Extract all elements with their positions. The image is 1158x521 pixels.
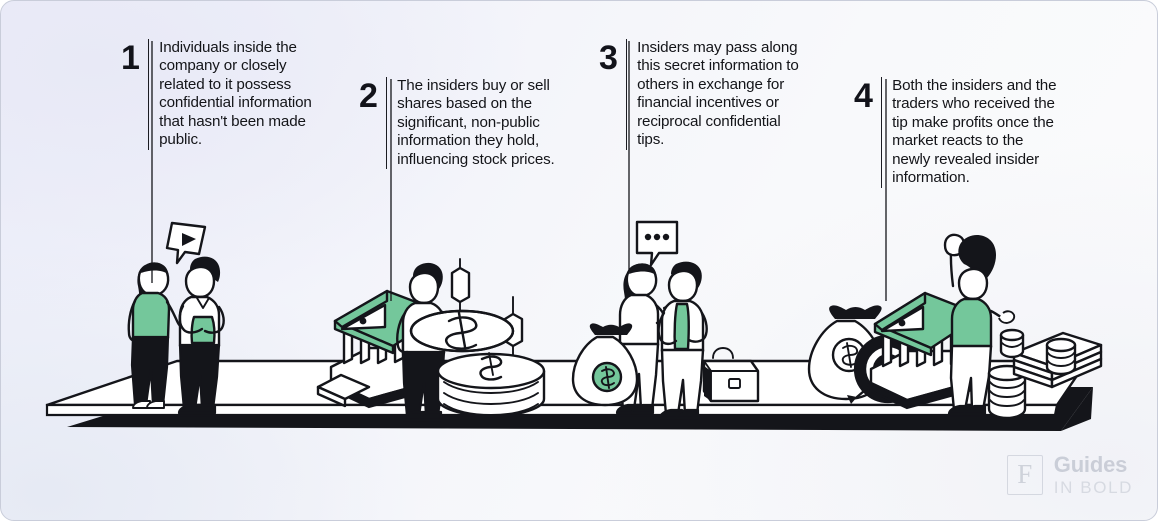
scene-3-tip-exchange — [573, 222, 758, 418]
target-with-arrow — [847, 336, 921, 404]
candlestick-chart — [452, 259, 522, 363]
logo-text-guides: Guides — [1054, 454, 1133, 476]
money-bag-dollar — [573, 323, 637, 405]
person-man-green-shirt — [659, 262, 707, 418]
logo-wordmark: Guides IN BOLD — [1054, 454, 1133, 496]
logo-text-in-bold: IN BOLD — [1054, 479, 1133, 496]
briefcase — [704, 348, 758, 401]
person-man-green-vest — [179, 257, 224, 413]
person-man-standing — [397, 263, 450, 420]
step-number-1: 1 — [121, 39, 139, 75]
person-woman-green-top — [129, 262, 188, 408]
step-text-1: Individuals inside the company or closel… — [159, 39, 321, 150]
dollar-sign-large — [446, 313, 476, 349]
step-number-2: 2 — [359, 77, 377, 113]
step-text-3: Insiders may pass along this secret info… — [637, 39, 799, 150]
brand-logo: F Guides IN BOLD — [1007, 454, 1133, 496]
logo-mark-f-icon: F — [1007, 455, 1043, 495]
person-celebrating-woman — [945, 235, 1014, 414]
coin-stack-far-right — [1047, 339, 1075, 374]
infographic-canvas: .ln { fill:none; stroke:#14151a; stroke-… — [0, 0, 1158, 521]
ground-platform — [47, 361, 1093, 431]
step-callout-2: 2 The insiders buy or sell shares based … — [359, 77, 559, 169]
bank-building-2 — [871, 293, 981, 408]
speech-bubble-dots-icon — [637, 222, 677, 265]
step-callout-1: 1 Individuals inside the company or clos… — [121, 39, 321, 150]
person-woman-with-phone — [617, 263, 678, 413]
money-bag-dollar-2 — [809, 305, 883, 399]
dollar-sign-small — [480, 353, 501, 379]
coin-stack-dollar — [411, 311, 544, 416]
scene-1-two-colleagues — [129, 223, 224, 413]
bank-building — [331, 291, 445, 407]
speech-bubble-arrow-icon — [167, 223, 205, 263]
step-callout-4: 4 Both the insiders and the traders who … — [854, 77, 1059, 188]
coin-stack-small — [989, 366, 1025, 418]
scene-2-bank-trading — [318, 259, 544, 420]
step-number-3: 3 — [599, 39, 617, 75]
bank-steps — [318, 375, 369, 406]
coin-stack-left-of-cash — [1001, 330, 1023, 357]
step-text-4: Both the insiders and the traders who re… — [892, 77, 1059, 188]
step-callout-3: 3 Insiders may pass along this secret in… — [599, 39, 799, 150]
step-number-4: 4 — [854, 77, 872, 113]
cash-stacks — [1014, 333, 1101, 387]
step-text-2: The insiders buy or sell shares based on… — [397, 77, 559, 169]
scene-4-profits-celebration — [809, 235, 1101, 418]
